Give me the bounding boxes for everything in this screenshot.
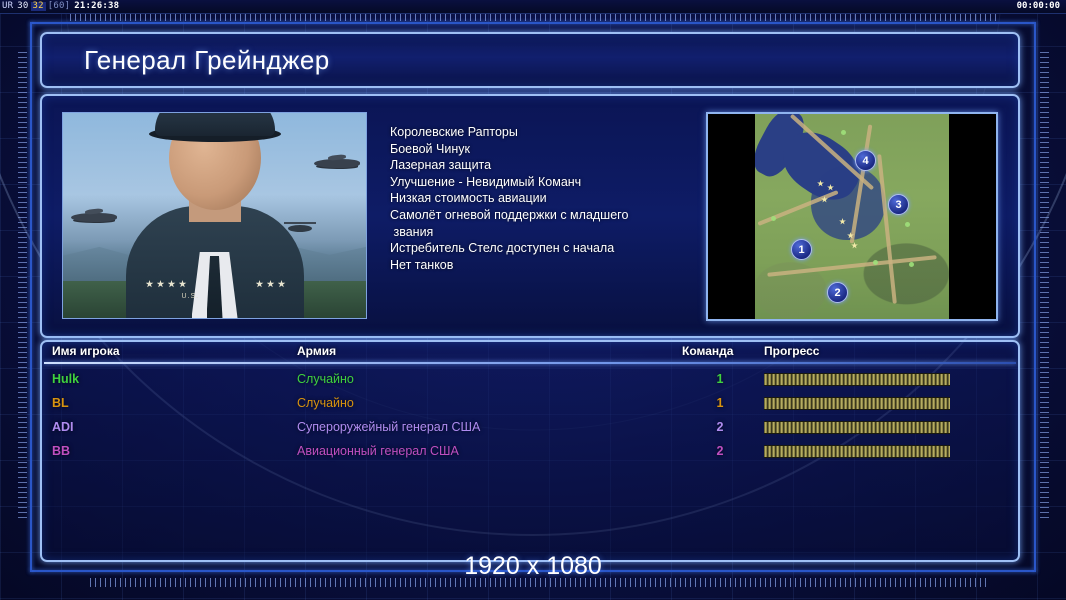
status-timer: 00:00:00	[1017, 1, 1060, 11]
ruler-ticks-left	[18, 52, 27, 522]
frame-line-right	[1034, 22, 1036, 572]
top-status-bar: UR 30 32 [60] 21:26:38 00:00:00	[0, 0, 1066, 14]
status-value-3: [60]	[46, 2, 72, 11]
frame-line-top	[30, 22, 1036, 24]
status-value-2: 32	[31, 2, 46, 11]
game-setup-screen: UR 30 32 [60] 21:26:38 00:00:00 Генерал …	[0, 0, 1066, 600]
resolution-label: 1920 x 1080	[0, 552, 1066, 581]
status-label: UR	[0, 2, 15, 11]
status-value-1: 30	[15, 2, 30, 11]
screen-frame	[30, 22, 1036, 572]
ruler-ticks-right	[1040, 52, 1049, 522]
frame-line-left	[30, 22, 32, 572]
status-clock: 21:26:38	[72, 2, 121, 11]
